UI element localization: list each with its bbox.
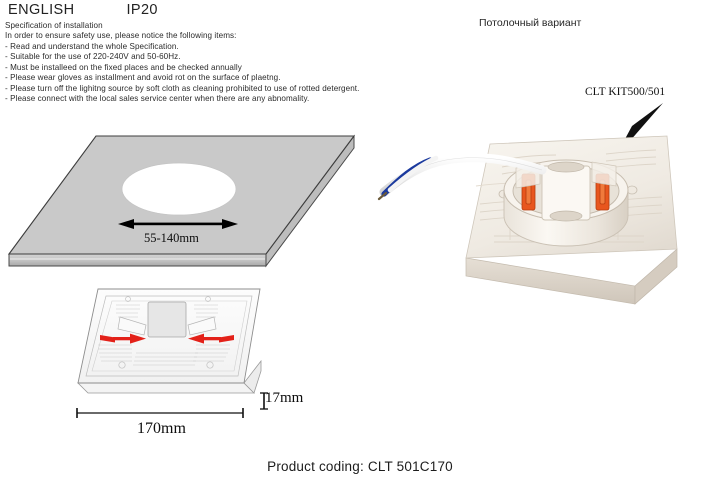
part-number-label: CLT KIT500/501 xyxy=(585,86,665,98)
panel-driver-box xyxy=(148,302,186,337)
plate-edge-front xyxy=(9,254,266,266)
width-dimension-label: 170mm xyxy=(137,420,186,438)
plate-hole xyxy=(122,163,236,215)
specification-block: Specification of installation In order t… xyxy=(5,21,405,105)
spec-sheet-page: ENGLISHIP20 Specification of installatio… xyxy=(0,0,720,497)
spec-title: Specification of installation xyxy=(5,21,405,31)
hole-dimension-label: 55-140mm xyxy=(144,231,199,246)
height-dimension-label: 17mm xyxy=(265,390,303,407)
base-front-side xyxy=(466,258,635,304)
panel-back-diagram xyxy=(68,283,268,413)
ceiling-mount-product-photo xyxy=(370,108,718,308)
spec-item: - Read and understand the whole Specific… xyxy=(5,42,405,52)
width-dimension-line xyxy=(75,407,245,419)
base-right-side xyxy=(635,249,677,304)
ip-rating-label: IP20 xyxy=(126,2,157,18)
spec-item: - Suitable for the use of 220-240V and 5… xyxy=(5,52,405,62)
ceiling-plate-diagram xyxy=(4,126,364,286)
spec-item: - Please connect with the local sales se… xyxy=(5,94,405,104)
header-row: ENGLISHIP20 xyxy=(8,2,158,18)
product-coding-footer: Product coding: CLT 501C170 xyxy=(0,459,720,474)
spec-item: - Please turn off the lighitng source by… xyxy=(5,84,405,94)
spec-item: - Must be installeed on the fixed places… xyxy=(5,63,405,73)
language-label: ENGLISH xyxy=(8,2,74,18)
spec-intro: In order to ensure safety use, please no… xyxy=(5,31,405,41)
ceiling-variant-caption: Потолочный вариант xyxy=(479,17,581,29)
panel-side-thickness xyxy=(78,383,254,393)
wire-white xyxy=(390,158,436,190)
spec-item: - Please wear gloves as installment and … xyxy=(5,73,405,83)
